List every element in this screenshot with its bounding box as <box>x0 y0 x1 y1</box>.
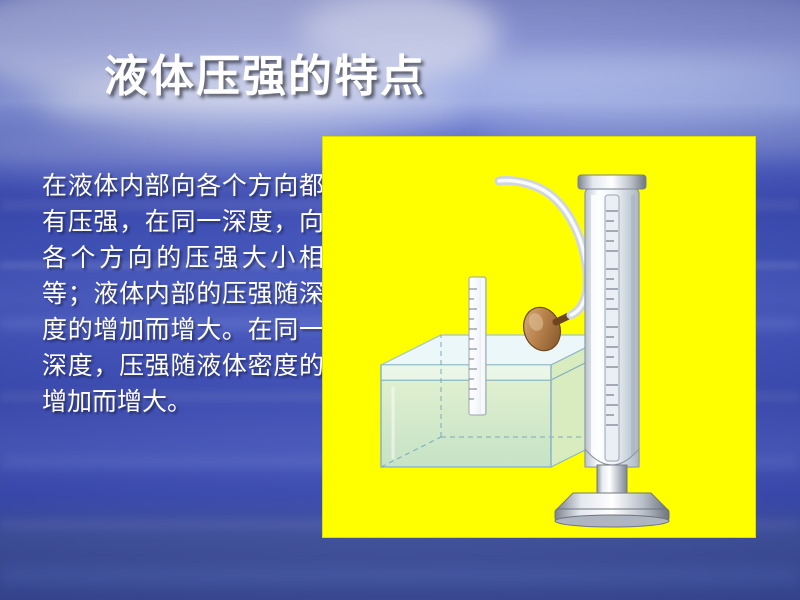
experiment-figure <box>322 136 756 538</box>
slide-title: 液体压强的特点 <box>104 40 426 104</box>
slide-canvas: 液体压强的特点 在液体内部向各个方向都有压强，在同一深度，向各个方向的压强大小相… <box>0 0 800 600</box>
rubber-tube <box>499 181 587 315</box>
water-tank <box>381 335 611 467</box>
ruler <box>469 277 486 415</box>
stand-base <box>555 465 669 527</box>
u-tube-manometer <box>578 175 646 467</box>
slide-body-text: 在液体内部向各个方向都有压强，在同一深度，向各个方向的压强大小相等；液体内部的压… <box>42 168 324 420</box>
water-band <box>0 568 800 584</box>
experiment-diagram <box>323 137 755 537</box>
cloud-decoration <box>420 60 800 120</box>
